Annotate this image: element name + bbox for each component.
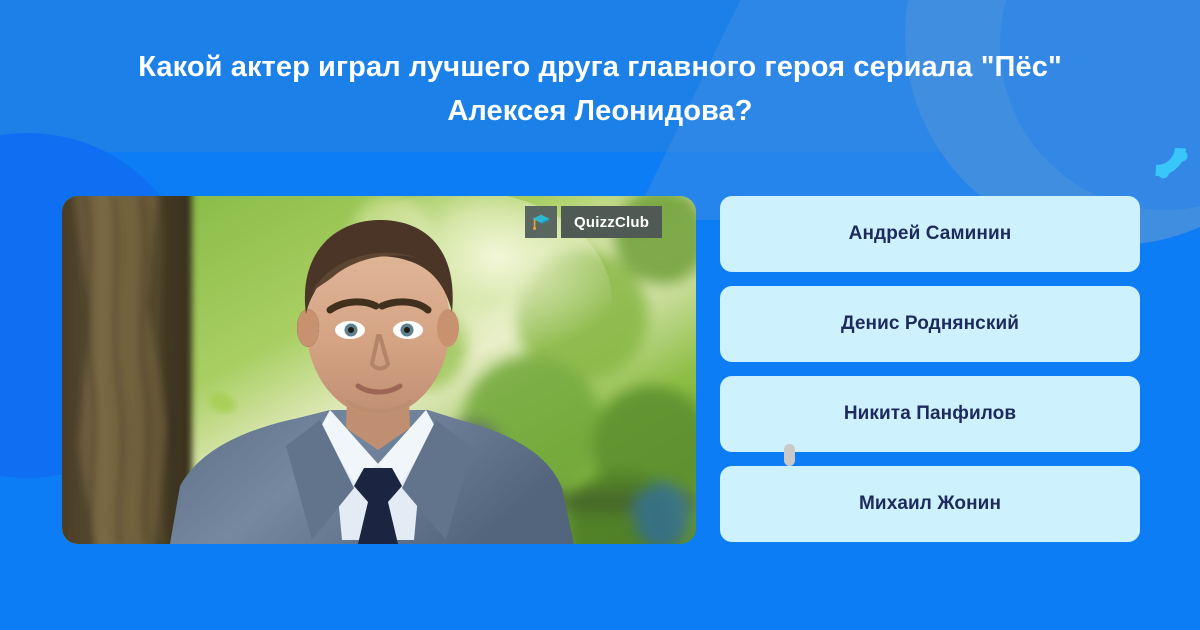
graduation-cap-icon bbox=[525, 206, 557, 238]
question-image: QuizzClub bbox=[62, 196, 696, 544]
answer-option-label: Андрей Саминин bbox=[849, 223, 1012, 245]
answer-option-label: Денис Роднянский bbox=[841, 313, 1019, 335]
answer-option-2[interactable]: Денис Роднянский bbox=[720, 286, 1140, 362]
answer-option-3[interactable]: Никита Панфилов bbox=[720, 376, 1140, 452]
photo-illustration bbox=[62, 196, 696, 544]
answer-options-list: Андрей Саминин Денис Роднянский Никита П… bbox=[720, 196, 1140, 542]
quiz-card: Какой актер играл лучшего друга главного… bbox=[0, 0, 1200, 630]
answer-option-1[interactable]: Андрей Саминин bbox=[720, 196, 1140, 272]
brand-label: QuizzClub bbox=[561, 206, 662, 238]
answer-option-label: Никита Панфилов bbox=[844, 403, 1016, 425]
answer-option-4[interactable]: Михаил Жонин bbox=[720, 466, 1140, 542]
answer-option-label: Михаил Жонин bbox=[859, 493, 1001, 515]
watermark-badge: QuizzClub bbox=[525, 206, 662, 238]
question-text: Какой актер играл лучшего друга главного… bbox=[100, 46, 1100, 133]
scrollbar-thumb[interactable] bbox=[784, 444, 795, 466]
